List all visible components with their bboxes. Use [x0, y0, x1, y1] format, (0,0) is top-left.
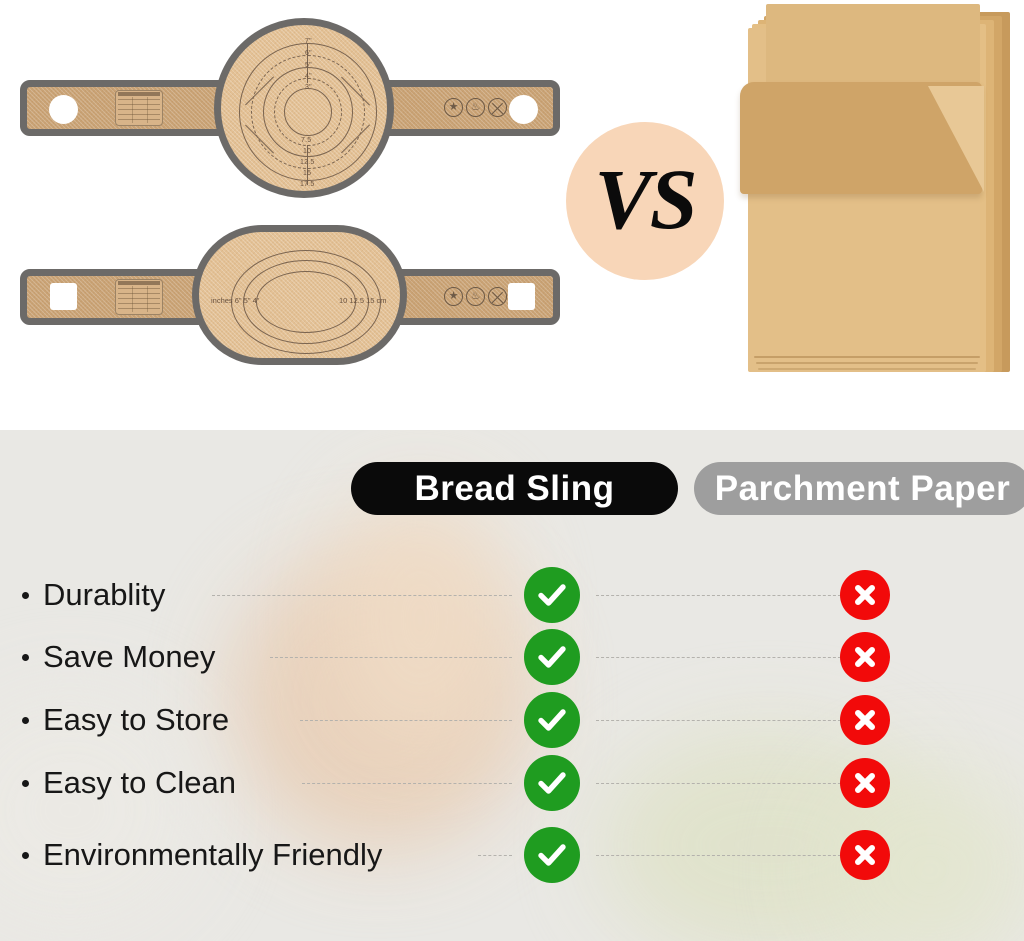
- sling-hole-left: [50, 283, 77, 310]
- check-icon: [524, 692, 580, 748]
- fold-corner: [928, 86, 984, 192]
- feature-label: Environmentally Friendly: [22, 831, 382, 879]
- ring-label-15cm: 15: [303, 170, 311, 177]
- ring-label-10cm: 10: [303, 148, 311, 155]
- ring-label-6in: 6": [305, 50, 312, 57]
- bullet-icon: [22, 780, 29, 787]
- leader-line-left: [302, 783, 512, 784]
- comparison-row: Environmentally Friendly: [0, 831, 1024, 879]
- leader-line-left: [300, 720, 512, 721]
- bullet-icon: [22, 654, 29, 661]
- sling-hole-left: [49, 95, 78, 124]
- ring-label-3in: 3": [305, 84, 312, 91]
- care-symbols-group: ★ ♨: [444, 98, 507, 117]
- leader-line-right: [596, 783, 846, 784]
- feature-text: Durablity: [43, 577, 165, 613]
- column-header-bread-sling: Bread Sling: [351, 462, 678, 515]
- sling-hole-right: [508, 283, 535, 310]
- column-header-parchment-paper-label: Parchment Paper: [715, 469, 1010, 509]
- parchment-paper-stack: [748, 4, 1010, 376]
- care-symbols-group: ★ ♨: [444, 287, 507, 306]
- check-icon: [524, 629, 580, 685]
- dishwasher-safe-icon: ★: [444, 98, 463, 117]
- cross-icon: [840, 632, 890, 682]
- comparison-row: Easy to Clean: [0, 759, 1024, 807]
- cross-icon: [840, 758, 890, 808]
- feature-text: Easy to Store: [43, 702, 229, 738]
- comparison-row: Durablity: [0, 571, 1024, 619]
- feature-text: Save Money: [43, 639, 215, 675]
- bullet-icon: [22, 592, 29, 599]
- scale-label-inches: inches 6" 5" 4": [211, 296, 259, 305]
- comparison-row: Easy to Store: [0, 696, 1024, 744]
- bullet-icon: [22, 852, 29, 859]
- check-icon: [524, 827, 580, 883]
- leader-line-right: [596, 595, 846, 596]
- scale-label-cm: 10 12.5 15 cm: [339, 296, 387, 305]
- check-icon: [524, 567, 580, 623]
- ring-3in: [284, 88, 332, 136]
- feature-text: Easy to Clean: [43, 765, 236, 801]
- leader-line-left: [478, 855, 512, 856]
- vs-badge: VS: [566, 122, 724, 280]
- feature-label: Durablity: [22, 571, 165, 619]
- cross-icon: [840, 570, 890, 620]
- heat-safe-icon: ♨: [466, 98, 485, 117]
- check-icon: [524, 755, 580, 811]
- leader-line-left: [212, 595, 512, 596]
- sling-hole-right: [509, 95, 538, 124]
- bread-sling-mat-bottom: ★ ♨ inches 6" 5" 4" 10 12.5 15 cm: [20, 225, 560, 370]
- bread-sling-mat-top: ★ ♨ 7" 6" 5": [20, 18, 560, 198]
- heat-safe-icon: ♨: [466, 287, 485, 306]
- product-comparison-infographic: ★ ♨ 7" 6" 5": [0, 0, 1024, 941]
- sling-measuring-panel: inches 6" 5" 4" 10 12.5 15 cm: [192, 225, 407, 365]
- cross-icon: [840, 695, 890, 745]
- bullet-icon: [22, 717, 29, 724]
- leader-line-right: [596, 657, 846, 658]
- ring-label-17-5cm: 17.5: [300, 181, 314, 188]
- leader-line-left: [270, 657, 512, 658]
- ring-label-5in: 5": [305, 62, 312, 69]
- sling-measuring-disc: 7" 6" 5" 4" 3" 7.5 10 12.5 15 17.5: [214, 18, 394, 198]
- comparison-row: Save Money: [0, 633, 1024, 681]
- feature-text: Environmentally Friendly: [43, 837, 382, 873]
- conversion-table-print: [115, 279, 163, 315]
- ring-label-12-5cm: 12.5: [300, 159, 314, 166]
- cross-icon: [840, 830, 890, 880]
- conversion-table-print: [115, 90, 163, 126]
- feature-label: Easy to Store: [22, 696, 229, 744]
- column-header-parchment-paper: Parchment Paper: [694, 462, 1024, 515]
- dishwasher-safe-icon: ★: [444, 287, 463, 306]
- no-cutting-icon: [488, 287, 507, 306]
- ring-label-4in: 4": [305, 73, 312, 80]
- no-cutting-icon: [488, 98, 507, 117]
- leader-line-right: [596, 720, 846, 721]
- ring-label-7-5cm: 7.5: [301, 137, 311, 144]
- leader-line-right: [596, 855, 846, 856]
- vs-label: VS: [594, 156, 695, 242]
- column-header-bread-sling-label: Bread Sling: [415, 469, 615, 509]
- hero-product-section: ★ ♨ 7" 6" 5": [0, 0, 1024, 432]
- feature-label: Save Money: [22, 633, 215, 681]
- feature-label: Easy to Clean: [22, 759, 236, 807]
- ring-label-7in: 7": [305, 38, 312, 45]
